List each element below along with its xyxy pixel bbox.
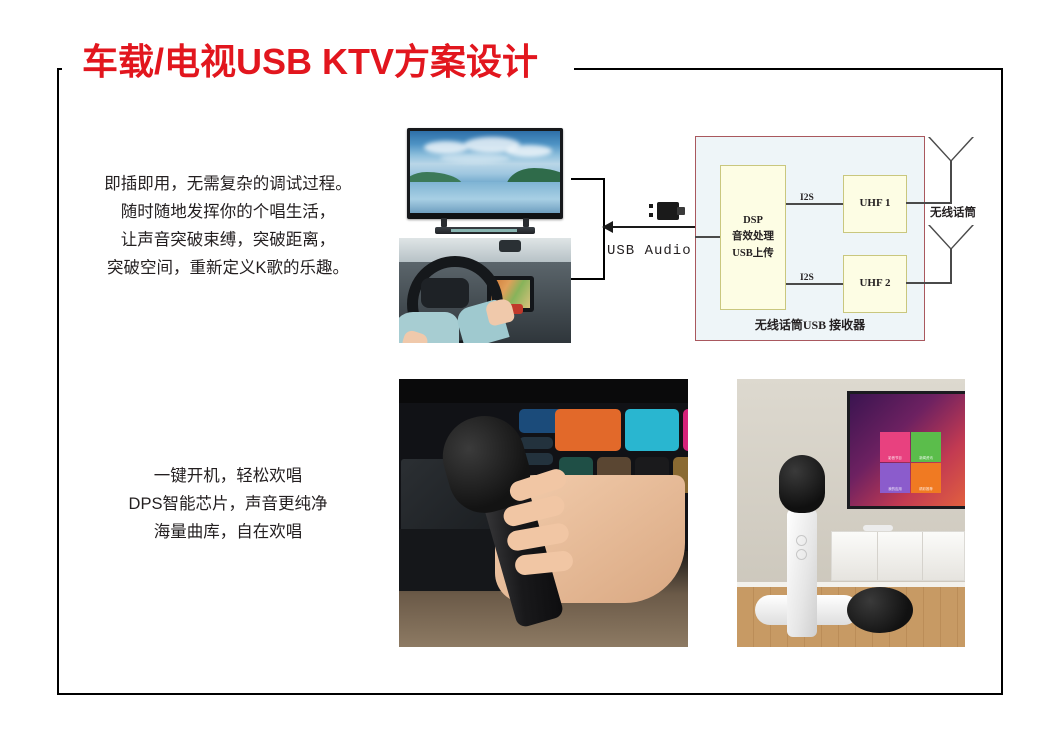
car-rear-view-mirror (499, 240, 521, 252)
tv-tile: 我的应用 (880, 463, 910, 493)
usb-audio-arrow (603, 226, 699, 228)
copy-line: 随时随地发挥你的个唱生活， (78, 198, 378, 226)
dsp-line-3: USB上传 (732, 246, 773, 262)
tv-screen (410, 131, 560, 213)
driver-torso (399, 312, 459, 343)
antenna-icon-2 (928, 225, 974, 265)
dsp-line-2: 音效处理 (732, 229, 774, 245)
tv-tile: 新闻资讯 (911, 432, 941, 462)
copy-line: 让声音突破束缚，突破距离， (78, 226, 378, 254)
dsp-line-1: DSP (743, 213, 763, 229)
i2s-label-1: I2S (798, 193, 816, 203)
feature-description-top: 即插即用，无需复杂的调试过程。 随时随地发挥你的个唱生活， 让声音突破束缚，突破… (78, 170, 378, 282)
remote-control (863, 525, 893, 531)
wire-dsp-uhf1 (786, 203, 843, 205)
car-windshield (399, 238, 571, 264)
car-steering-hub (421, 278, 469, 308)
microphone-lying-foam-head (847, 587, 913, 633)
dash-tile (625, 409, 679, 451)
wire-usb-input (695, 236, 720, 238)
tv-cabinet (831, 531, 965, 581)
feature-description-bottom: 一键开机，轻松欢唱 DPS智能芯片，声音更纯净 海量曲库，自在欢唱 (78, 462, 378, 546)
rf-feed-uhf2 (906, 282, 952, 284)
photo-microphone-in-car (399, 379, 688, 647)
copy-line: 突破空间，重新定义K歌的乐趣。 (78, 254, 378, 282)
uhf1-block: UHF 1 (843, 175, 907, 233)
tv-stand-left (441, 218, 447, 227)
receiver-block-diagram: DSP 音效处理 USB上传 UHF 1 UHF 2 I2S I2S 无线话筒U… (695, 136, 925, 341)
usb-audio-label: USB Audio (607, 243, 692, 259)
mic-button-bottom (796, 549, 807, 560)
tv-bezel (410, 213, 560, 219)
photo-television (399, 124, 571, 234)
i2s-label-2: I2S (798, 273, 816, 283)
microphone-standing-foam-head (779, 455, 825, 513)
microphone-standing-body (787, 509, 817, 637)
page-title: 车载/电视USB KTV方案设计 (82, 42, 538, 82)
wireless-mic-label: 无线话筒 (930, 204, 976, 220)
copy-line: 海量曲库，自在欢唱 (78, 518, 378, 546)
tv-tile: 影音节目 (880, 432, 910, 462)
tv-tile: 精彩推荐 (911, 463, 941, 493)
driver-hand-on-wheel (400, 329, 429, 343)
copy-line: 一键开机，轻松欢唱 (78, 462, 378, 490)
tv-base-light (451, 229, 517, 232)
copy-line: 即插即用，无需复杂的调试过程。 (78, 170, 378, 198)
wire-dsp-uhf2 (786, 283, 843, 285)
signal-bracket (571, 178, 605, 280)
wall-mounted-tv: 影音节目 新闻资讯 我的应用 精彩推荐 (847, 391, 965, 509)
copy-line: DPS智能芯片，声音更纯净 (78, 490, 378, 518)
dsp-block: DSP 音效处理 USB上传 (720, 165, 786, 310)
tv-chassis (407, 128, 563, 219)
photo-living-room-karaoke: 影音节目 新闻资讯 我的应用 精彩推荐 (737, 379, 965, 647)
dash-tile (683, 409, 688, 451)
usb-plug-icon (645, 200, 685, 222)
photo-car-interior (399, 238, 571, 343)
uhf2-block: UHF 2 (843, 255, 907, 313)
diagram-caption: 无线话筒USB 接收器 (696, 316, 924, 333)
mic-button-top (796, 535, 807, 546)
dash-tile (555, 409, 621, 451)
tv-stand-right (523, 218, 529, 227)
antenna-icon-1 (928, 137, 974, 177)
